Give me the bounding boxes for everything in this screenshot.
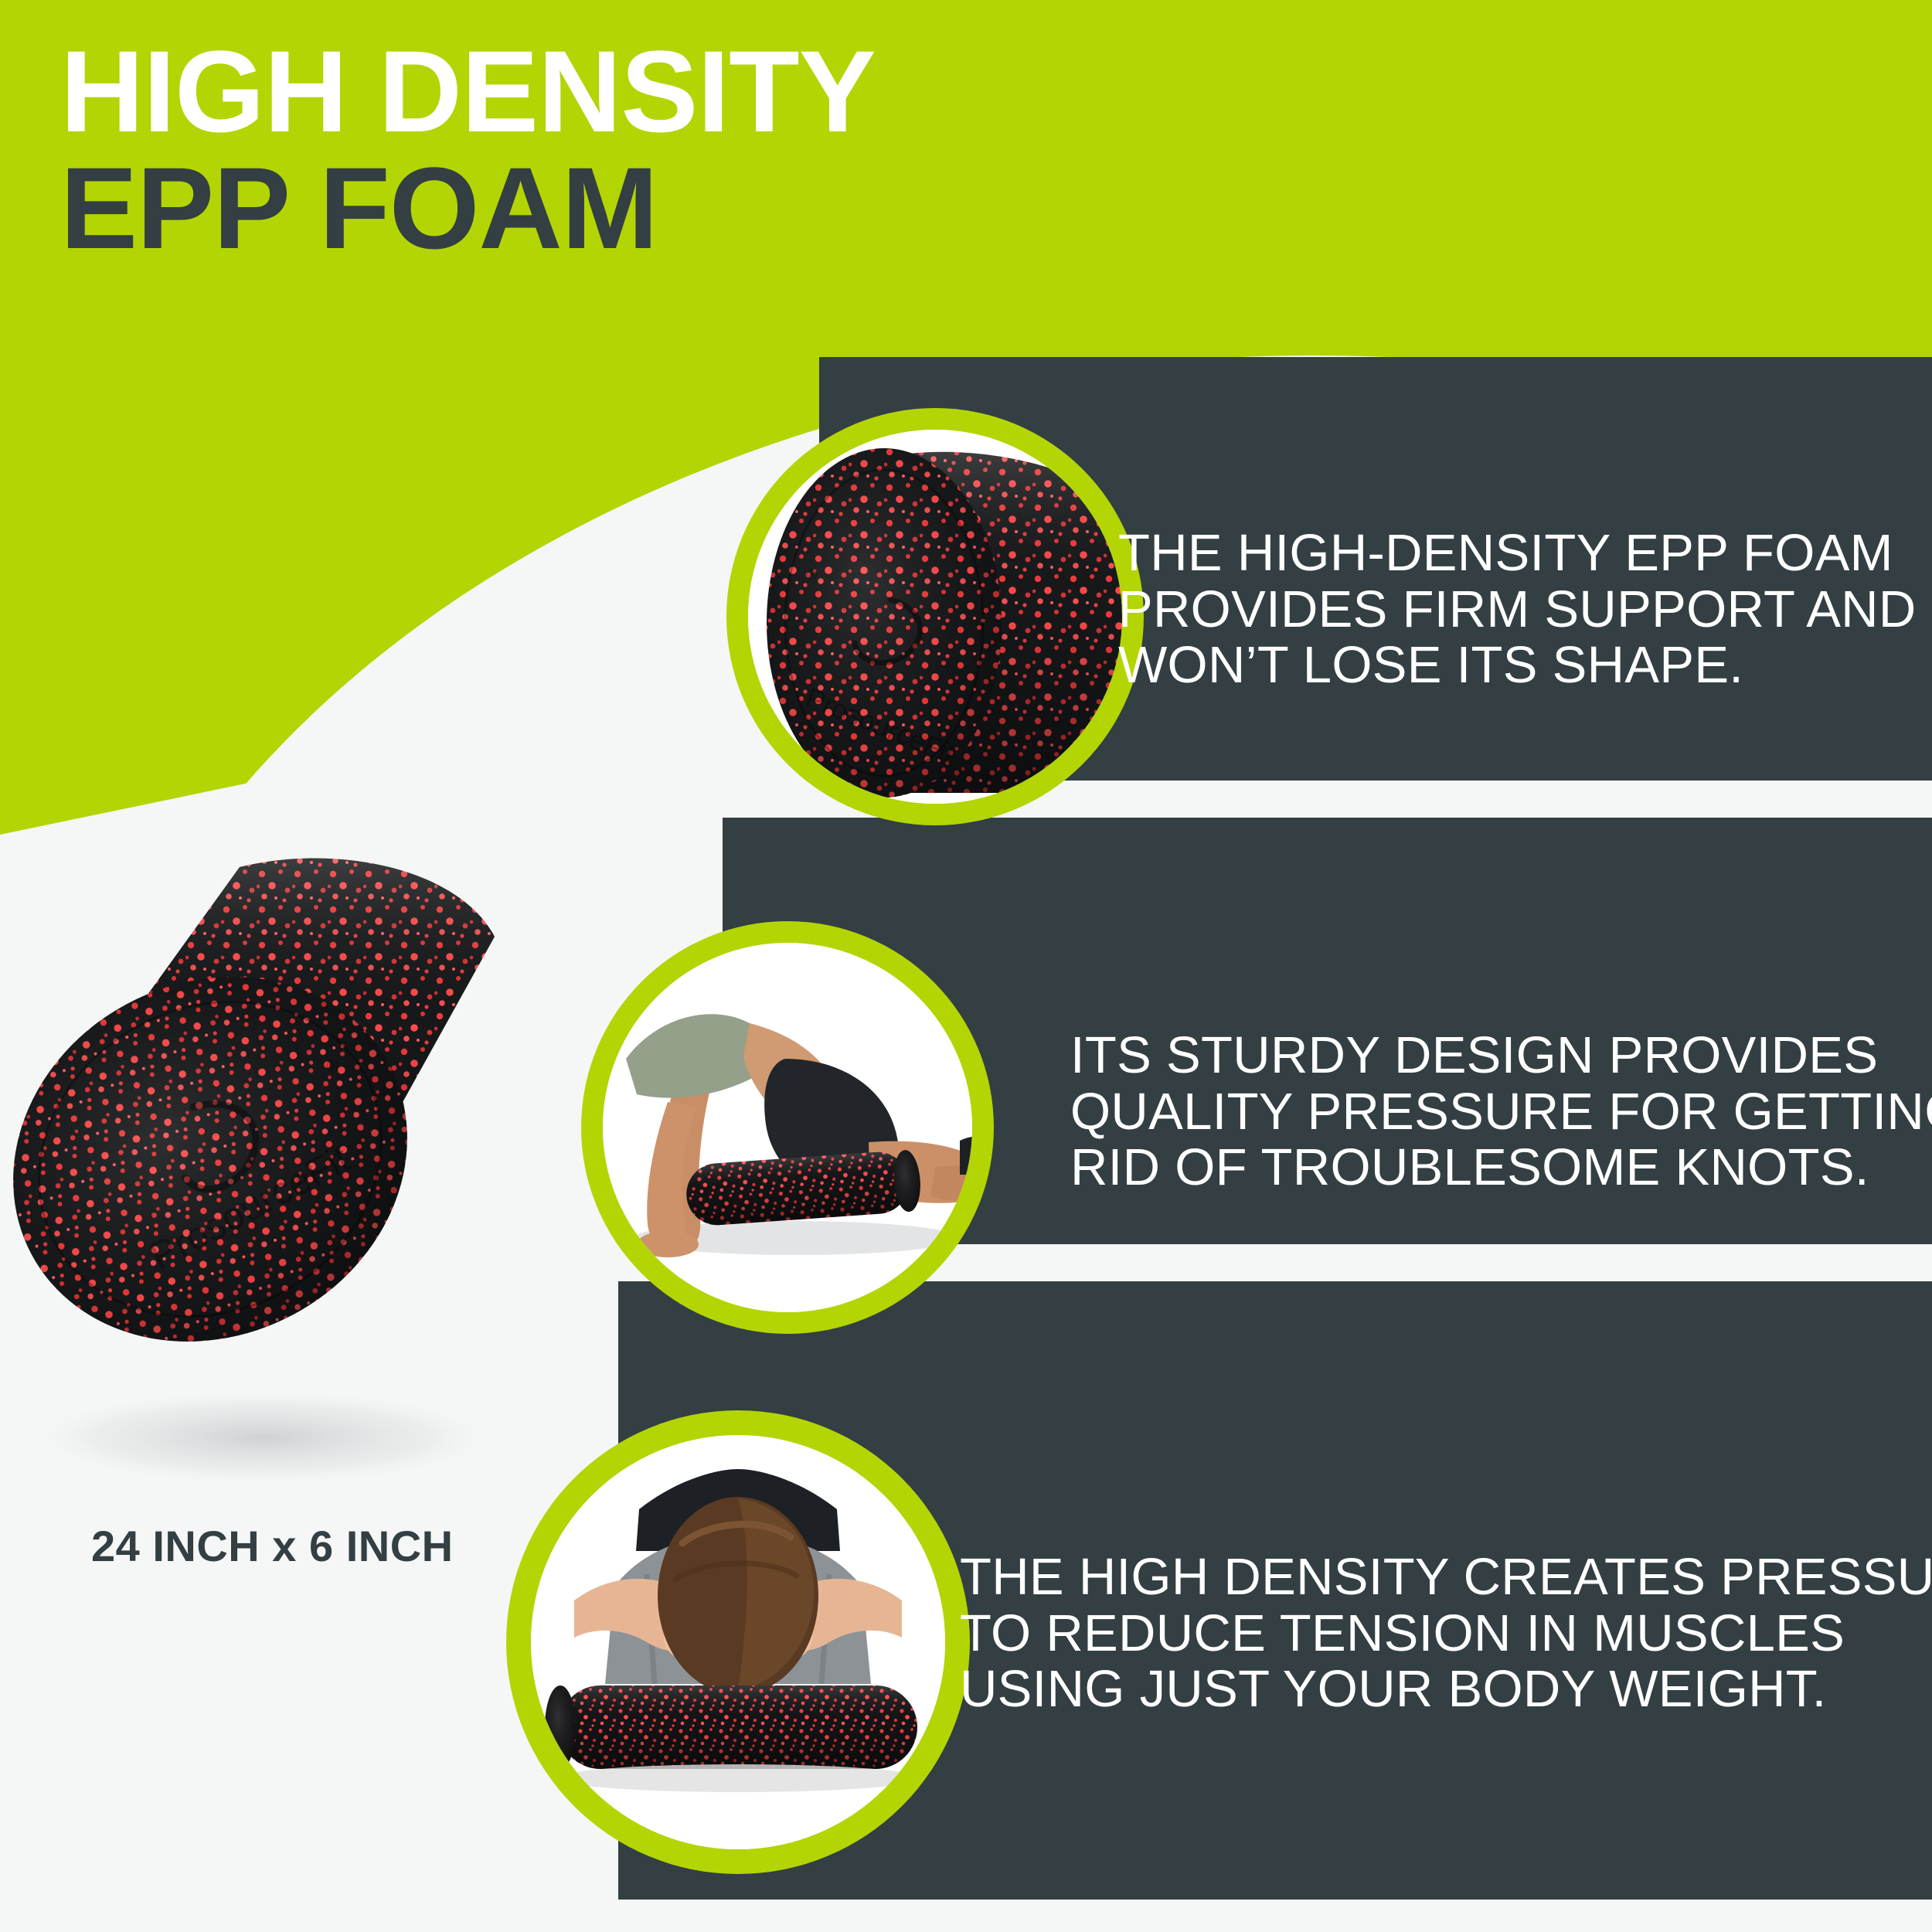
hero-product-image: ProsourceFit ® <box>8 796 518 1492</box>
headline-line-1: HIGH DENSITY <box>60 37 876 146</box>
feature-3-text: THE HIGH DENSITY CREATES PRESSURE TO RED… <box>960 1549 1932 1718</box>
feature-1-line-3: WON’T LOSE ITS SHAPE. <box>1118 638 1917 694</box>
feature-3-photo <box>531 1435 945 1849</box>
feature-2-line-1: ITS STURDY DESIGN PROVIDES <box>1070 1028 1932 1084</box>
feature-3-line-3: USING JUST YOUR BODY WEIGHT. <box>960 1662 1932 1718</box>
registered-mark-icon: ® <box>807 567 817 583</box>
feature-2-line-2: QUALITY PRESSURE FOR GETTING <box>1070 1084 1932 1141</box>
feature-3-line-1: THE HIGH DENSITY CREATES PRESSURE <box>960 1549 1932 1606</box>
feature-3-line-2: TO REDUCE TENSION IN MUSCLES <box>960 1606 1932 1662</box>
feature-2-photo <box>603 943 972 1312</box>
feature-2-line-3: RID OF TROUBLESOME KNOTS. <box>1070 1140 1932 1196</box>
headline-line-2: EPP FOAM <box>60 154 876 263</box>
feature-1-text: THE HIGH-DENSITY EPP FOAM PROVIDES FIRM … <box>1118 526 1917 694</box>
product-dimensions-label: 24 INCH x 6 INCH <box>91 1521 454 1571</box>
feature-1-line-2: PROVIDES FIRM SUPPORT AND <box>1118 582 1917 638</box>
feature-2-text: ITS STURDY DESIGN PROVIDES QUALITY PRESS… <box>1070 1028 1932 1196</box>
page-title: HIGH DENSITY EPP FOAM <box>60 37 876 263</box>
feature-1-photo: ProsourceFit ® <box>748 430 1122 804</box>
infographic-canvas: HIGH DENSITY EPP FOAM ProsourceFit ® 24 … <box>0 0 1932 1932</box>
feature-1-line-1: THE HIGH-DENSITY EPP FOAM <box>1118 526 1917 582</box>
